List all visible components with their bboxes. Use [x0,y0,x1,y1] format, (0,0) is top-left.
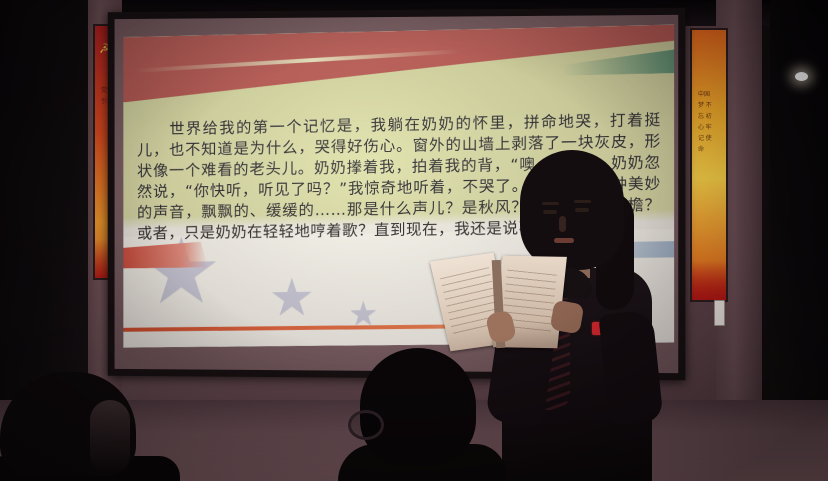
audience-member-left [0,372,180,481]
presenter-hand-right [550,300,585,335]
wall-switch[interactable] [714,300,725,326]
presenter-woman [486,150,666,481]
poster-right-text: 中国 梦 不忘 初心 牢记 使命 [698,90,714,156]
gold-red-poster: 中国 梦 不忘 初心 牢记 使命 [690,28,728,302]
presenter-hair [520,150,624,270]
presenter-eyebrow-left [542,202,559,205]
star-icon: ★ [269,272,315,324]
audience-member-with-glasses [338,348,506,481]
classroom-scene: ☭ 党建 引领 中国 梦 不忘 初心 牢记 使命 ★ ★ ★ 世界 [0,0,828,481]
audience-2-hair-highlight [90,400,130,474]
presenter-mouth [554,238,574,243]
presenter-nose [559,216,566,232]
presenter-eye-left [543,210,557,214]
presenter-arm-right [598,309,663,426]
presenter-eyebrow-right [574,200,591,203]
audience-1-head [360,348,476,466]
ceiling-light-icon [795,72,808,81]
presenter-eye-right [575,208,589,212]
glasses-icon [348,410,384,440]
text-indent [137,134,168,135]
poster-right-flag [692,262,726,300]
